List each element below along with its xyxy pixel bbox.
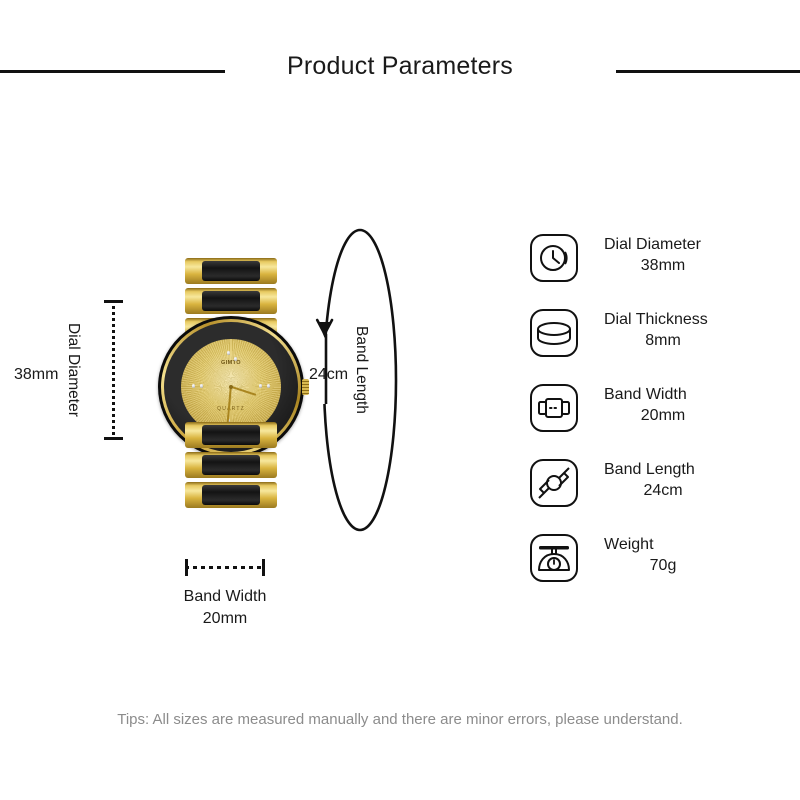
watch-dial-icon [528, 232, 580, 284]
spec-value: 8mm [604, 330, 722, 352]
product-parameters-page: Product Parameters Dial Diameter 38mm GI… [0, 0, 800, 800]
band-length-dimension-value: 24cm [309, 366, 348, 384]
dimension-cap-left [185, 559, 188, 576]
bracelet-link [185, 422, 277, 448]
spec-row-band-width: Band Width 20mm [528, 382, 788, 457]
spec-row-weight: Weight 70g [528, 532, 788, 607]
kitchen-scale-icon [528, 532, 580, 584]
band-width-dimension-value: 20mm [145, 610, 305, 628]
dial-marker-icon [200, 384, 203, 387]
dial-diameter-dimension-line [112, 300, 115, 440]
watch-minute-hand [227, 387, 232, 423]
band-length-dimension-label: Band Length [350, 300, 372, 440]
spec-value: 24cm [604, 480, 722, 502]
watch-strap-icon [528, 457, 580, 509]
band-segment-icon [528, 382, 580, 434]
watch-bracelet-bottom [185, 420, 277, 514]
watch-product-image: GIMTO QUARTZ [158, 256, 304, 514]
dimension-cap-top [104, 300, 123, 303]
spec-text-weight: Weight 70g [604, 534, 784, 577]
dial-marker-icon [267, 384, 270, 387]
watch-quartz-text: QUARTZ [217, 406, 245, 412]
spec-row-dial-diameter: Dial Diameter 38mm [528, 232, 788, 307]
page-title: Product Parameters [0, 52, 800, 81]
spec-text-band-width: Band Width 20mm [604, 384, 784, 427]
spec-value: 20mm [604, 405, 722, 427]
spec-value: 38mm [604, 255, 722, 277]
dial-marker-icon [227, 351, 230, 354]
bracelet-link [185, 258, 277, 284]
spec-list: Dial Diameter 38mm Dial Thickness 8mm [528, 232, 788, 607]
spec-row-dial-thickness: Dial Thickness 8mm [528, 307, 788, 382]
dial-diameter-dimension-value: 38mm [14, 366, 58, 384]
spec-label: Weight [604, 534, 784, 555]
watch-crown [302, 379, 309, 395]
band-width-dimension-label: Band Width [145, 588, 305, 606]
spec-label: Band Length [604, 459, 784, 480]
band-width-dimension-line [185, 566, 265, 569]
spec-label: Dial Thickness [604, 309, 784, 330]
spec-text-band-length: Band Length 24cm [604, 459, 784, 502]
spec-label: Band Width [604, 384, 784, 405]
spec-text-dial-thickness: Dial Thickness 8mm [604, 309, 784, 352]
spec-label: Dial Diameter [604, 234, 784, 255]
watch-hour-hand [231, 386, 256, 396]
dimension-cap-bottom [104, 437, 123, 440]
bracelet-link [185, 482, 277, 508]
spec-value: 70g [604, 555, 722, 577]
dial-diameter-dimension-label: Dial Diameter [62, 300, 84, 440]
dimension-cap-right [262, 559, 265, 576]
spec-row-band-length: Band Length 24cm [528, 457, 788, 532]
dial-marker-icon [259, 384, 262, 387]
disc-thickness-icon [528, 307, 580, 359]
bracelet-link [185, 452, 277, 478]
tips-text: Tips: All sizes are measured manually an… [0, 711, 800, 728]
watch-brand-logo: GIMTO [221, 360, 241, 366]
bracelet-link [185, 288, 277, 314]
dial-marker-icon [192, 384, 195, 387]
watch-center-pin [229, 385, 233, 389]
spec-text-dial-diameter: Dial Diameter 38mm [604, 234, 784, 277]
